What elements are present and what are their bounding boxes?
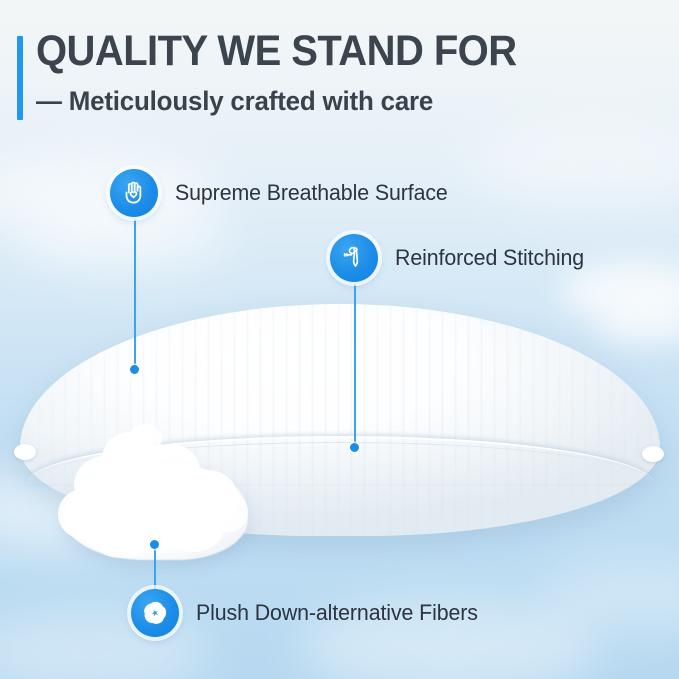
hand-heart-icon[interactable] [110, 169, 158, 217]
fiber-puff [208, 492, 248, 532]
feature-label: Supreme Breathable Surface [175, 180, 448, 206]
connector-endpoint-dot [130, 365, 139, 374]
needle-thread-icon[interactable] [330, 234, 378, 282]
page-subtitle: — Meticulously crafted with care [36, 84, 433, 118]
infographic-stage: QUALITY WE STAND FOR — Meticulously craf… [0, 0, 679, 679]
header: QUALITY WE STAND FOR — Meticulously craf… [0, 0, 679, 140]
connector-line [154, 548, 156, 592]
page-title: QUALITY WE STAND FOR [36, 26, 517, 76]
connector-endpoint-dot [150, 540, 159, 549]
connector-endpoint-dot [350, 443, 359, 452]
fiber-puff [88, 506, 154, 558]
header-accent-bar [17, 36, 23, 120]
connector-line [134, 219, 136, 370]
feature-label: Reinforced Stitching [395, 245, 584, 271]
pillow-corner-left [14, 444, 36, 460]
pillow-corner-right [642, 446, 664, 462]
feature-label: Plush Down-alternative Fibers [196, 600, 478, 626]
feature-breathable-surface[interactable]: Supreme Breathable Surface [110, 169, 456, 217]
fiber-swirl-icon[interactable] [131, 589, 179, 637]
fiber-puff [128, 424, 162, 454]
feature-down-alternative-fibers[interactable]: Plush Down-alternative Fibers [131, 589, 487, 637]
feature-reinforced-stitching[interactable]: Reinforced Stitching [330, 234, 590, 282]
connector-line [354, 284, 356, 448]
